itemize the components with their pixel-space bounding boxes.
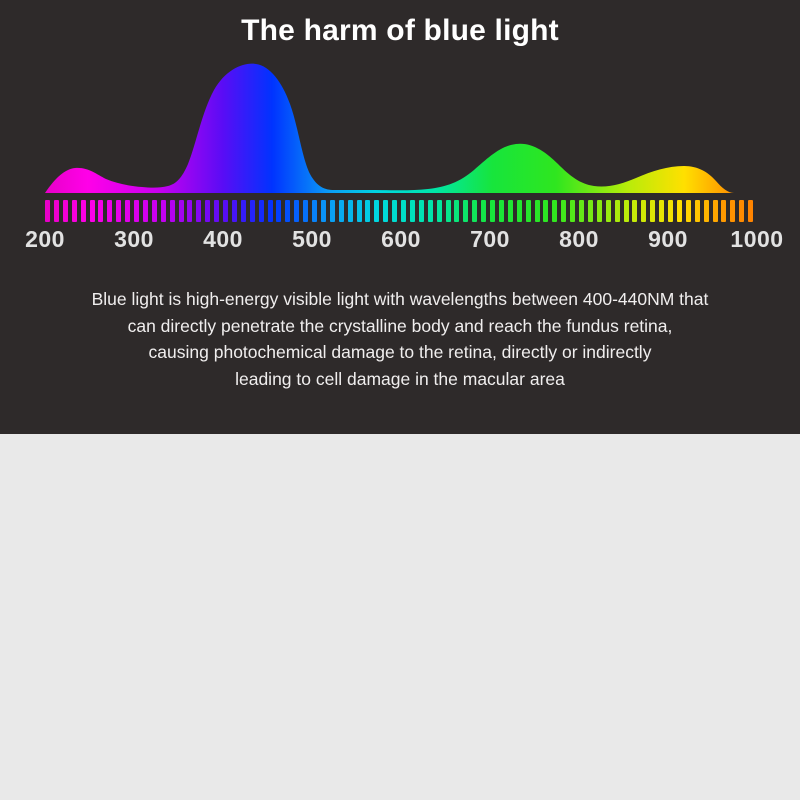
wavelength-tick (606, 200, 611, 222)
wavelength-tick (677, 200, 682, 222)
wavelength-tick (695, 200, 700, 222)
wavelength-tick (116, 200, 121, 222)
wavelength-tick (321, 200, 326, 222)
wavelength-tick (668, 200, 673, 222)
bottom-diagram-panel: Visible light Macula Blue light b-wave A… (0, 434, 800, 800)
wavelength-tick (312, 200, 317, 222)
wavelength-tick (152, 200, 157, 222)
wavelength-tick (276, 200, 281, 222)
wavelength-tick (659, 200, 664, 222)
wavelength-tick (63, 200, 68, 222)
wavelength-tick (90, 200, 95, 222)
wavelength-tick (446, 200, 451, 222)
wavelength-tick (739, 200, 744, 222)
infographic-root: The harm of blue light (0, 0, 800, 800)
wavelength-tick (214, 200, 219, 222)
wavelength-tick (401, 200, 406, 222)
wavelength-tick (570, 200, 575, 222)
wavelength-tick (392, 200, 397, 222)
wavelength-tick (713, 200, 718, 222)
wavelength-tick (650, 200, 655, 222)
wavelength-tick (250, 200, 255, 222)
axis-tick-label: 300 (114, 226, 154, 253)
wavelength-tick (641, 200, 646, 222)
wavelength-tick (143, 200, 148, 222)
wavelength-tick (161, 200, 166, 222)
wavelength-tick (179, 200, 184, 222)
wavelength-tick (624, 200, 629, 222)
wavelength-tick (98, 200, 103, 222)
page-title: The harm of blue light (0, 14, 800, 48)
wavelength-tick (365, 200, 370, 222)
description-line-3: causing photochemical damage to the reti… (50, 339, 750, 366)
description-line-4: leading to cell damage in the macular ar… (50, 366, 750, 393)
wavelength-tick (196, 200, 201, 222)
wavelength-tick (357, 200, 362, 222)
wavelength-tick (294, 200, 299, 222)
wavelength-tick (472, 200, 477, 222)
wavelength-tick (223, 200, 228, 222)
wavelength-axis-labels: 2003004005006007008009001000 (0, 226, 800, 258)
wavelength-tick (632, 200, 637, 222)
description-line-2: can directly penetrate the crystalline b… (50, 313, 750, 340)
top-dark-panel: The harm of blue light (0, 0, 800, 434)
wavelength-tick (419, 200, 424, 222)
wavelength-tick (107, 200, 112, 222)
wavelength-tick (268, 200, 273, 222)
wavelength-tick (454, 200, 459, 222)
wavelength-tick (561, 200, 566, 222)
wavelength-tick (285, 200, 290, 222)
wavelength-tick (686, 200, 691, 222)
wavelength-tick (374, 200, 379, 222)
wavelength-tick (54, 200, 59, 222)
description-line-1: Blue light is high-energy visible light … (50, 286, 750, 313)
wavelength-tick (499, 200, 504, 222)
axis-tick-label: 600 (381, 226, 421, 253)
wavelength-tick (241, 200, 246, 222)
wavelength-tick (579, 200, 584, 222)
axis-tick-label: 700 (470, 226, 510, 253)
wavelength-tick (383, 200, 388, 222)
wavelength-tick (481, 200, 486, 222)
axis-tick-label: 200 (25, 226, 65, 253)
wavelength-tick (45, 200, 50, 222)
wavelength-tick (526, 200, 531, 222)
description-paragraph: Blue light is high-energy visible light … (50, 286, 750, 392)
wavelength-tick (125, 200, 130, 222)
wavelength-tick (463, 200, 468, 222)
wavelength-tick (508, 200, 513, 222)
wavelength-tick (187, 200, 192, 222)
wavelength-tick (339, 200, 344, 222)
wavelength-tick (490, 200, 495, 222)
wavelength-tick (410, 200, 415, 222)
wavelength-tick (81, 200, 86, 222)
wavelength-tick (721, 200, 726, 222)
wavelength-tick (232, 200, 237, 222)
spectrum-svg (0, 60, 800, 210)
wavelength-tick (303, 200, 308, 222)
wavelength-tick (748, 200, 753, 222)
wavelength-tick (205, 200, 210, 222)
wavelength-tick (535, 200, 540, 222)
wavelength-tick (517, 200, 522, 222)
axis-tick-label: 1000 (730, 226, 783, 253)
wavelength-tick-scale (45, 200, 757, 222)
wavelength-tick (348, 200, 353, 222)
axis-tick-label: 500 (292, 226, 332, 253)
wavelength-tick (134, 200, 139, 222)
wavelength-tick (170, 200, 175, 222)
spectrum-chart (0, 60, 800, 210)
wavelength-tick (730, 200, 735, 222)
axis-tick-label: 800 (559, 226, 599, 253)
axis-tick-label: 400 (203, 226, 243, 253)
wavelength-tick (330, 200, 335, 222)
wavelength-tick (552, 200, 557, 222)
wavelength-tick (72, 200, 77, 222)
wavelength-tick (437, 200, 442, 222)
wavelength-tick (259, 200, 264, 222)
wavelength-tick (597, 200, 602, 222)
axis-tick-label: 900 (648, 226, 688, 253)
wavelength-tick (428, 200, 433, 222)
wavelength-tick (588, 200, 593, 222)
wavelength-tick (543, 200, 548, 222)
wavelength-tick (615, 200, 620, 222)
wavelength-tick (704, 200, 709, 222)
spectrum-curve (45, 64, 755, 193)
